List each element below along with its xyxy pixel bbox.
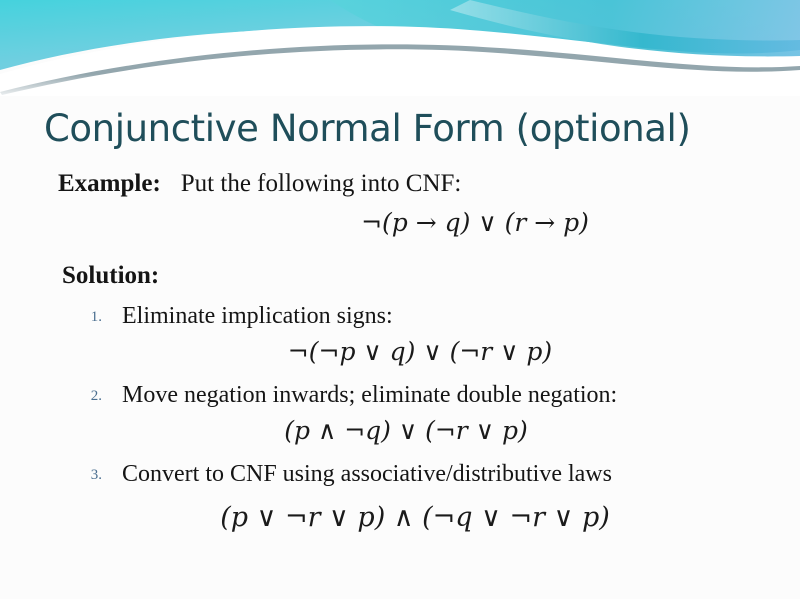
step-text: Eliminate implication signs: <box>122 300 800 332</box>
slide: Conjunctive Normal Form (optional) Examp… <box>0 0 800 599</box>
wave-hairline <box>0 44 800 95</box>
step-formula: (p ∧ ¬q) ∨ (¬r ∨ p) <box>0 415 800 448</box>
step-text: Convert to CNF using associative/distrib… <box>122 458 800 490</box>
wave-fade <box>0 74 800 96</box>
page-title: Conjunctive Normal Form (optional) <box>44 108 756 149</box>
wave-shape-secondary <box>330 0 800 71</box>
wave-shape-white <box>0 26 800 96</box>
list-item: 3. Convert to CNF using associative/dist… <box>0 458 800 490</box>
slide-body: Example:Put the following into CNF: ¬(p … <box>0 168 800 535</box>
step-marker: 3. <box>76 467 102 484</box>
example-label: Example: <box>58 170 161 197</box>
step-formula: ¬(¬p ∨ q) ∨ (¬r ∨ p) <box>0 336 800 369</box>
step-text: Move negation inwards; eliminate double … <box>122 379 800 411</box>
example-formula: ¬(p → q) ∨ (r → p) <box>0 207 800 240</box>
header-wave-band <box>0 0 800 96</box>
step-marker: 1. <box>76 309 102 326</box>
step-formula: (p ∨ ¬r ∨ p) ∧ (¬q ∨ ¬r ∨ p) <box>0 500 800 535</box>
wave-shape-main <box>0 0 800 70</box>
example-line: Example:Put the following into CNF: <box>58 168 800 199</box>
step-marker: 2. <box>76 388 102 405</box>
solution-steps: 1. Eliminate implication signs: ¬(¬p ∨ q… <box>0 300 800 535</box>
solution-label: Solution: <box>62 262 800 290</box>
list-item: 1. Eliminate implication signs: <box>0 300 800 332</box>
list-item: 2. Move negation inwards; eliminate doub… <box>0 379 800 411</box>
example-prompt: Put the following into CNF: <box>181 170 462 197</box>
wave-ribbon-upper <box>450 0 800 56</box>
